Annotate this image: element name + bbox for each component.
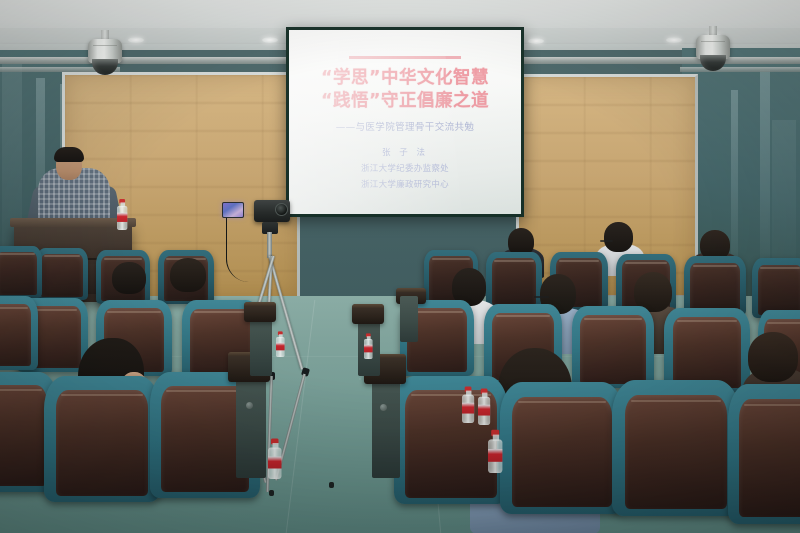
downlight <box>128 37 144 43</box>
eyeglasses <box>534 296 549 298</box>
auditorium-seat <box>572 306 654 388</box>
slide-title-line1: “学思”中华文化智慧 <box>321 67 489 90</box>
seat-side-knob <box>246 402 253 409</box>
seat-side-panel <box>236 366 266 478</box>
slide-speaker-name: 张 子 法 <box>382 146 428 158</box>
water-bottle <box>364 333 373 359</box>
audience-head <box>170 258 206 292</box>
seat-side-panel <box>400 296 418 342</box>
projection-screen: “学思”中华文化智慧 “践悟”守正倡廉之道 ——与医学院管理骨干交流共勉 张 子… <box>286 27 524 217</box>
audience-head <box>112 262 146 294</box>
seat-side-knob <box>380 404 387 411</box>
audience-head <box>604 222 633 252</box>
bottle-label <box>117 213 127 222</box>
slide-org-line2: 浙江大学廉政研究中心 <box>361 178 449 190</box>
dome-camera-icon <box>88 30 122 76</box>
dome-camera-icon <box>696 26 730 72</box>
screen-surface: “学思”中华文化智慧 “践悟”守正倡廉之道 ——与医学院管理骨干交流共勉 张 子… <box>289 30 521 214</box>
water-bottle <box>462 387 474 423</box>
auditorium-seat <box>44 376 160 502</box>
lecture-hall-photo: “学思”中华文化智慧 “践悟”守正倡廉之道 ——与医学院管理骨干交流共勉 张 子… <box>0 0 800 533</box>
tripod-foot <box>329 482 334 488</box>
tripod-foot <box>269 490 274 496</box>
auditorium-seat <box>486 252 542 308</box>
slide-divider-rule <box>349 56 461 59</box>
seat-side-panel <box>372 368 400 478</box>
glass-reflection <box>760 70 770 260</box>
water-bottle <box>268 439 282 480</box>
auditorium-seat <box>612 380 740 516</box>
water-bottle <box>276 331 285 357</box>
camera-dome <box>92 59 118 75</box>
seat-armrest <box>352 304 384 324</box>
glass-reflection <box>731 90 738 265</box>
auditorium-seat <box>36 248 88 300</box>
auditorium-seat <box>0 246 42 298</box>
video-camera <box>254 200 290 222</box>
auditorium-seat <box>500 382 624 514</box>
presenter-hair <box>54 147 84 162</box>
auditorium-seat <box>0 296 38 370</box>
downlight <box>528 38 544 44</box>
auditorium-seat <box>752 258 800 318</box>
tripod-center-column <box>267 232 272 258</box>
water-bottle <box>117 199 127 230</box>
camera-cable <box>226 218 249 282</box>
audience-head <box>748 332 798 382</box>
seat-armrest <box>244 302 276 322</box>
slide-org-line1: 浙江大学纪委办监察处 <box>361 162 449 174</box>
presentation-slide: “学思”中华文化智慧 “践悟”守正倡廉之道 ——与医学院管理骨干交流共勉 张 子… <box>289 30 521 214</box>
water-bottle <box>488 430 502 473</box>
camera-dome <box>700 55 726 71</box>
water-bottle <box>478 389 490 425</box>
downlight <box>262 37 278 43</box>
eyeglasses <box>600 240 613 242</box>
slide-title-line2: “践悟”守正倡廉之道 <box>321 90 489 113</box>
wall-trim <box>0 57 300 64</box>
auditorium-seat <box>728 384 800 524</box>
camera-lens-icon <box>275 203 288 216</box>
wall-trim <box>500 57 800 64</box>
auditorium-seat <box>684 256 746 316</box>
glass-reflection <box>772 120 796 270</box>
camera-lcd-screen <box>222 202 244 218</box>
slide-subtitle: ——与医学院管理骨干交流共勉 <box>336 119 475 133</box>
downlight <box>666 37 682 43</box>
